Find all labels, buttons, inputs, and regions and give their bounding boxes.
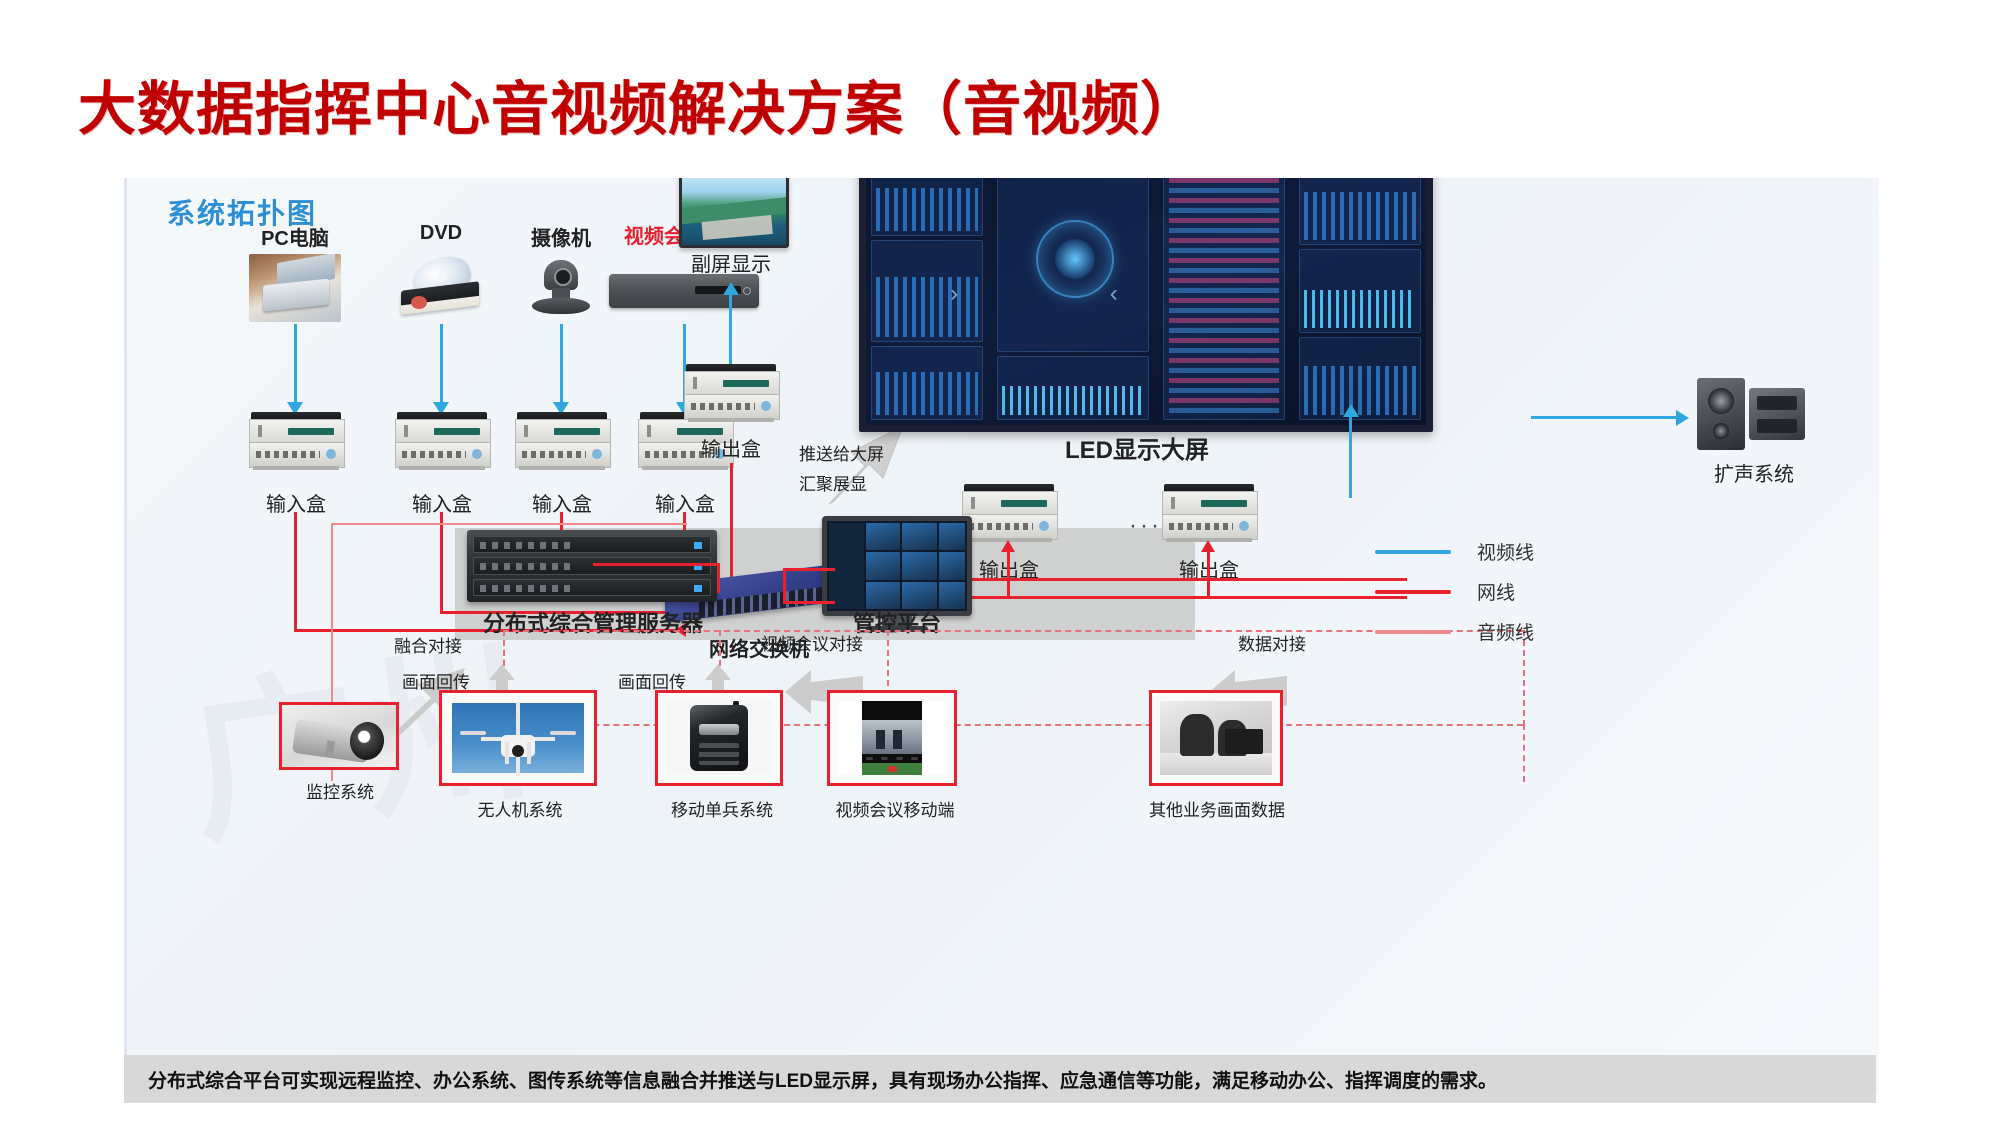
topology-canvas: 广州 系统拓扑图 PC电脑 DVD 摄像机 视频会议接入	[124, 178, 1879, 1094]
net-line-led2-v	[1207, 550, 1210, 598]
video-line-led	[1349, 414, 1352, 498]
management-server-icon	[467, 530, 717, 602]
handheld-radio-icon	[666, 701, 772, 775]
input-box-1	[249, 302, 343, 474]
push-note-line2: 汇聚展显	[799, 470, 939, 495]
source-label-pc: PC电脑	[235, 222, 355, 251]
net-arrow-led2	[1201, 540, 1215, 552]
legend-swatch-network	[1375, 590, 1451, 594]
legend-item-audio: 音频线	[1375, 618, 1534, 645]
legend-label-audio: 音频线	[1477, 618, 1534, 645]
bottom-box-other	[1149, 690, 1283, 786]
output-box-sub	[684, 364, 778, 426]
input-box-3	[515, 302, 609, 474]
output-box-led-2	[1162, 484, 1256, 546]
audio-line-speaker	[1531, 416, 1677, 419]
mobile-phone-icon	[838, 701, 946, 775]
flow-note-fusion: 融合对接	[363, 632, 493, 657]
net-line-server-to-box	[593, 563, 719, 566]
bottom-label-surveillance: 监控系统	[277, 778, 403, 803]
bottom-box-radio	[655, 690, 783, 786]
net-line-in1-v	[294, 512, 297, 632]
speaker-system-icon	[1697, 378, 1809, 450]
net-line-led1-v	[1007, 550, 1010, 598]
drone-icon	[452, 703, 584, 773]
sub-display-tv	[679, 178, 789, 248]
footer-caption-bar: 分布式综合平台可实现远程监控、办公系统、图传系统等信息融合并推送与LED显示屏，…	[124, 1055, 1876, 1103]
led-wall-icon: ‹ ›	[859, 178, 1433, 432]
output-box-sub-label: 输出盒	[671, 433, 791, 462]
bottom-box-mobile-vc	[827, 690, 957, 786]
output-box-led-1	[962, 484, 1056, 546]
legend: 视频线 网线 音频线	[1375, 538, 1675, 648]
footer-caption-text: 分布式综合平台可实现远程监控、办公系统、图传系统等信息融合并推送与LED显示屏，…	[148, 1066, 1497, 1093]
bottom-label-mobile-vc: 视频会议移动端	[815, 796, 975, 821]
push-note-line1: 推送给大屏	[799, 440, 939, 465]
input-box-2	[395, 302, 489, 474]
flow-note-vc-docking: 视频会议对接	[727, 630, 897, 655]
net-line-platform-h	[783, 568, 835, 571]
audio-arrow-speaker	[1676, 410, 1689, 426]
speaker-system-label: 扩声系统	[1689, 458, 1819, 487]
legend-swatch-video	[1375, 550, 1451, 554]
legend-item-video: 视频线	[1375, 538, 1534, 565]
bottom-box-drone	[439, 690, 597, 786]
bottom-box-surveillance	[279, 702, 399, 770]
legend-item-network: 网线	[1375, 578, 1515, 605]
source-label-dvd: DVD	[381, 222, 501, 245]
dash-other-down	[1523, 724, 1525, 782]
net-line-server-switch	[717, 563, 720, 593]
dash-top-bus	[503, 630, 1523, 632]
page-title: 大数据指挥中心音视频解决方案（音视频）	[78, 62, 1199, 146]
surveillance-camera-icon	[282, 705, 396, 767]
flow-note-data-docking: 数据对接	[1197, 630, 1347, 655]
legend-label-network: 网线	[1477, 578, 1515, 605]
net-line-platform-v	[783, 568, 786, 604]
video-arrow-led	[1343, 404, 1359, 417]
legend-swatch-audio	[1375, 630, 1451, 634]
led-wall-label: LED显示大屏	[1007, 430, 1267, 465]
office-workstation-icon	[1160, 701, 1272, 775]
pink-line-switch-left	[331, 523, 687, 525]
video-line-subdisplay	[729, 294, 732, 366]
sub-display-label: 副屏显示	[670, 248, 792, 277]
bottom-label-drone: 无人机系统	[445, 796, 595, 821]
bottom-label-other: 其他业务画面数据	[1127, 796, 1307, 821]
bottom-label-radio: 移动单兵系统	[647, 796, 797, 821]
net-line-in2-v	[440, 512, 443, 614]
net-line-platform-down	[783, 601, 835, 604]
net-arrow-led1	[1001, 540, 1015, 552]
slide-root: 大数据指挥中心音视频解决方案（音视频） 广州 系统拓扑图 PC电脑 DVD 摄像…	[0, 0, 2000, 1125]
legend-label-video: 视频线	[1477, 538, 1534, 565]
